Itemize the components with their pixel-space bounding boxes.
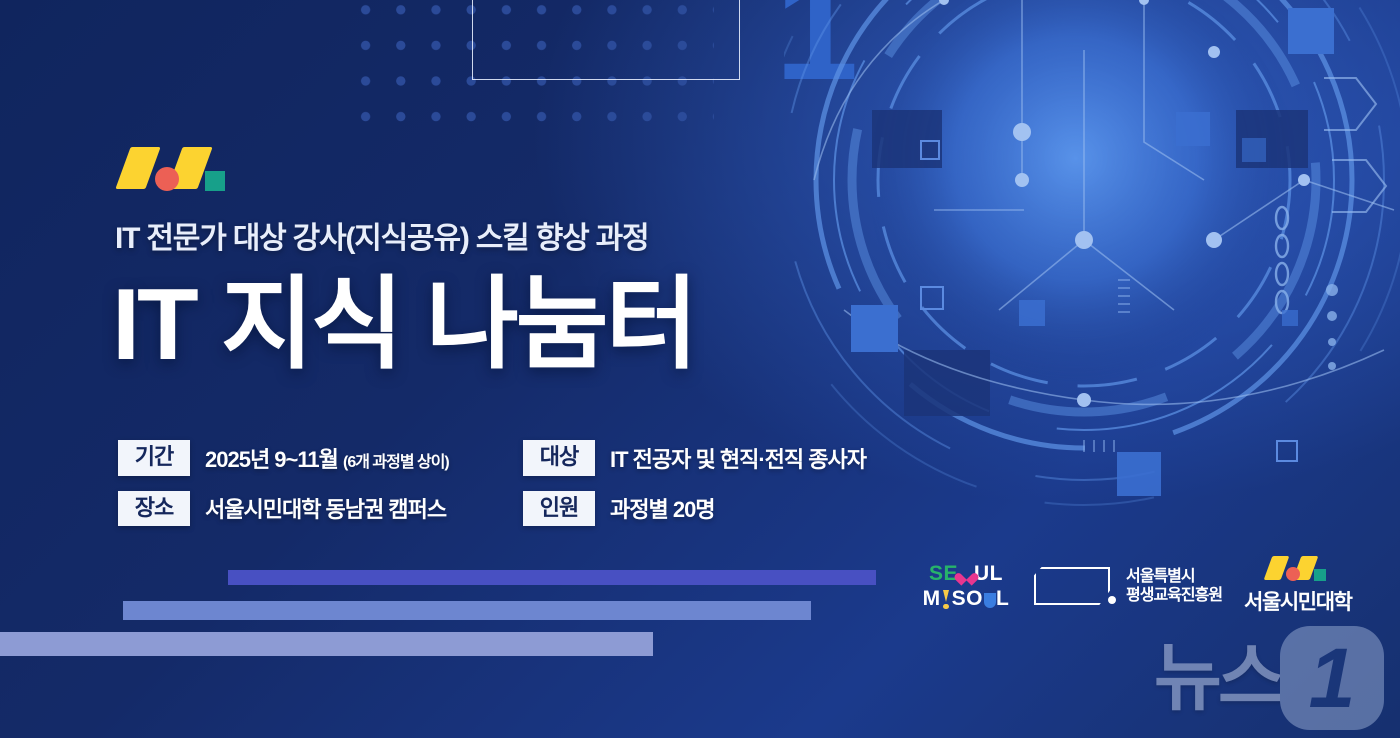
info-block: 기간 2025년 9~11월 (6개 과정별 상이) 대상 IT 전공자 및 현… bbox=[118, 440, 968, 541]
heart-icon bbox=[959, 568, 974, 582]
logo-square-icon bbox=[1314, 569, 1326, 581]
watermark-text: 뉴스 bbox=[1154, 641, 1282, 715]
info-value: 2025년 9~11월 (6개 과정별 상이) bbox=[205, 442, 449, 474]
exclamation-icon bbox=[942, 590, 951, 609]
info-item-audience: 대상 IT 전공자 및 현직·전직 종사자 bbox=[523, 440, 866, 476]
info-label: 장소 bbox=[118, 491, 190, 527]
info-item-period: 기간 2025년 9~11월 (6개 과정별 상이) bbox=[118, 440, 523, 476]
lifelong-education-institute-logo: 서울특별시 평생교육진흥원 bbox=[1034, 567, 1222, 605]
info-label: 인원 bbox=[523, 491, 595, 527]
speech-bubble-icon bbox=[1034, 567, 1116, 605]
logo-dot-icon bbox=[155, 167, 179, 191]
info-value: 과정별 20명 bbox=[610, 492, 715, 524]
smsoul-line-2: MSOL bbox=[916, 587, 1016, 610]
banner-title: IT 지식 나눔터 bbox=[112, 272, 695, 379]
lifelong-education-name: 서울특별시 평생교육진흥원 bbox=[1126, 567, 1222, 605]
logo-slash-1 bbox=[115, 147, 160, 189]
promo-banner: 1 bbox=[0, 0, 1400, 738]
partner-logos: SEUL MSOL 서울특별시 평생교육진흥원 bbox=[916, 556, 1352, 616]
u-shape-icon bbox=[984, 593, 996, 608]
watermark-number: 1 bbox=[1280, 626, 1384, 730]
logo-dot-icon bbox=[1286, 567, 1300, 581]
seoul-my-soul-logo: SEUL MSOL bbox=[916, 562, 1016, 610]
banner-subtitle: IT 전문가 대상 강사(지식공유) 스킬 향상 과정 bbox=[115, 213, 648, 257]
info-value: 서울시민대학 동남권 캠퍼스 bbox=[205, 492, 446, 524]
info-row: 기간 2025년 9~11월 (6개 과정별 상이) 대상 IT 전공자 및 현… bbox=[118, 440, 968, 476]
citizen-university-name: 서울시민대학 bbox=[1244, 586, 1352, 616]
seoul-citizen-university-logo-mark bbox=[117, 147, 227, 191]
info-note: (6개 과정별 상이) bbox=[343, 454, 449, 471]
logo-square-icon bbox=[205, 171, 225, 191]
citizen-university-mark bbox=[1266, 556, 1330, 581]
info-row: 장소 서울시민대학 동남권 캠퍼스 인원 과정별 20명 bbox=[118, 491, 968, 527]
news1-watermark: 뉴스 1 bbox=[1154, 626, 1384, 730]
smsoul-line-1: SEUL bbox=[916, 562, 1016, 585]
citizen-university-logo: 서울시민대학 bbox=[1244, 556, 1352, 616]
info-label: 기간 bbox=[118, 440, 190, 476]
info-item-location: 장소 서울시민대학 동남권 캠퍼스 bbox=[118, 491, 523, 527]
info-value: IT 전공자 및 현직·전직 종사자 bbox=[610, 442, 866, 474]
info-item-capacity: 인원 과정별 20명 bbox=[523, 491, 715, 527]
logo-slash-1 bbox=[1263, 556, 1289, 580]
info-label: 대상 bbox=[523, 440, 595, 476]
